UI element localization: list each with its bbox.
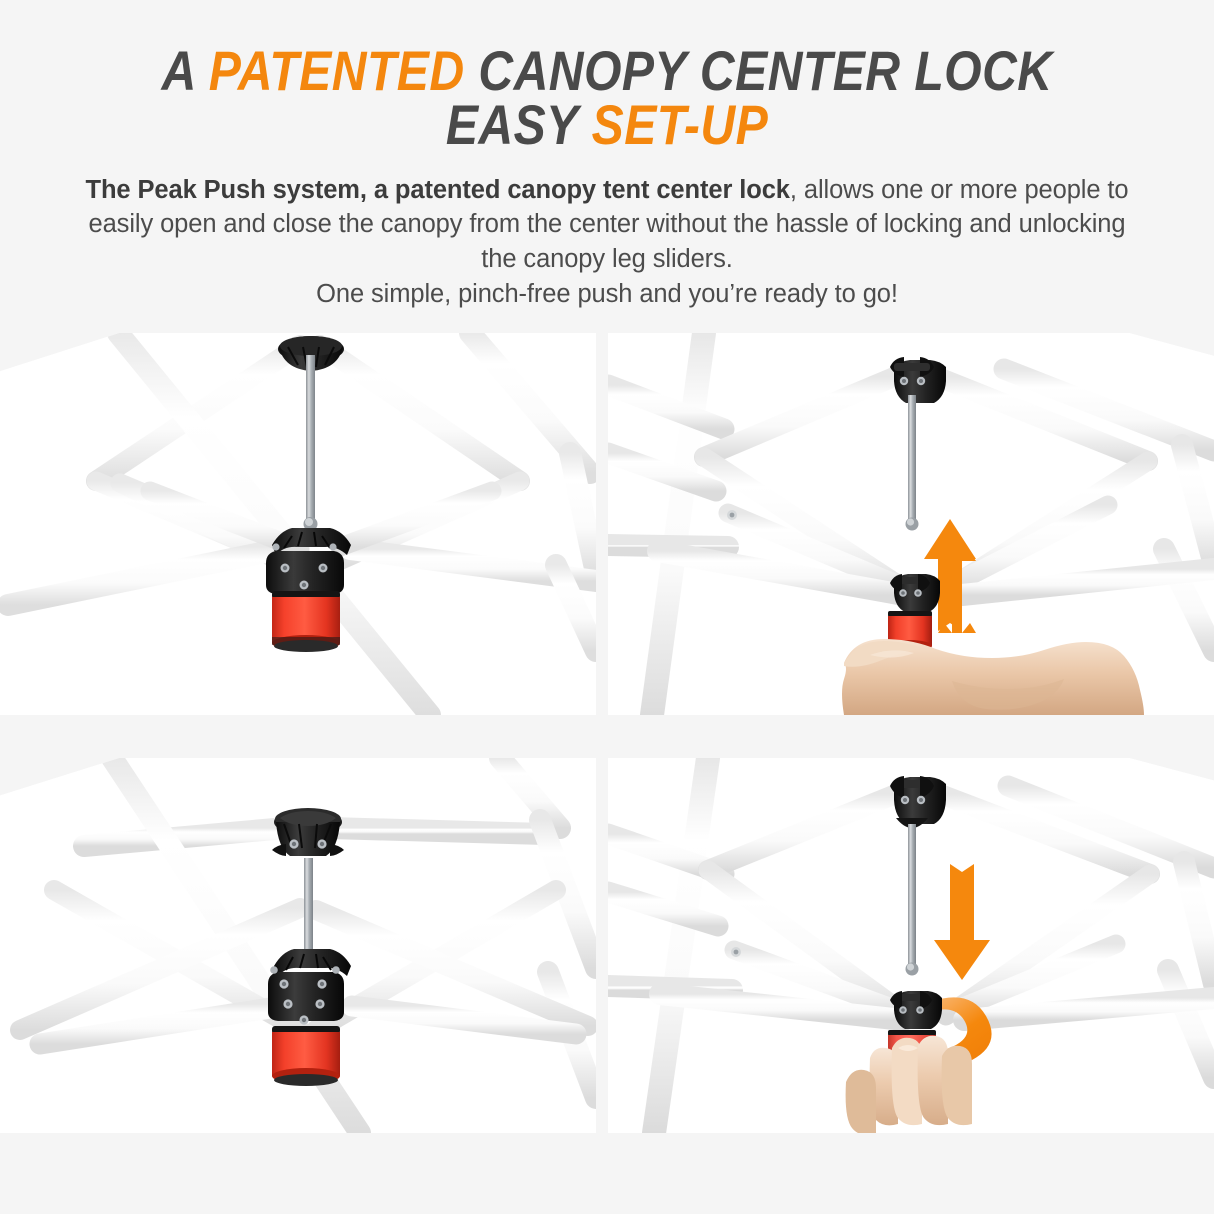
title-prefix: A	[161, 39, 208, 102]
center-lock-extended-photo	[0, 333, 596, 715]
panel-center-lock-engaged	[0, 758, 596, 1133]
push-up-with-hand-photo	[608, 333, 1214, 715]
panel-twist-and-lower	[608, 758, 1214, 1133]
panel-push-up-with-hand	[608, 333, 1214, 715]
title-accent-setup: SET-UP	[592, 93, 769, 156]
page-description: The Peak Push system, a patented canopy …	[75, 173, 1139, 312]
center-lock-assembly	[266, 528, 351, 652]
top-hub	[272, 808, 344, 856]
drop-rod	[304, 858, 313, 960]
page-title: A PATENTED CANOPY CENTER LOCK EASY SET-U…	[85, 44, 1129, 153]
panel-center-lock-extended	[0, 333, 596, 715]
description-paragraph: The Peak Push system, a patented canopy …	[75, 173, 1139, 277]
twist-and-lower-photo	[608, 758, 1214, 1133]
photo-panel-grid	[0, 333, 1214, 1133]
infographic-header: A PATENTED CANOPY CENTER LOCK EASY SET-U…	[0, 0, 1214, 311]
page-title-line-2: EASY SET-UP	[85, 98, 1129, 152]
center-lock-engaged-photo	[0, 758, 596, 1133]
title-accent-patented: PATENTED	[209, 39, 465, 102]
description-closing: One simple, pinch-free push and you’re r…	[75, 277, 1139, 312]
title-easy: EASY	[446, 93, 592, 156]
page-title-line-1: A PATENTED CANOPY CENTER LOCK	[85, 44, 1129, 98]
description-lead: The Peak Push system, a patented canopy …	[85, 176, 789, 204]
top-hub	[890, 776, 946, 828]
